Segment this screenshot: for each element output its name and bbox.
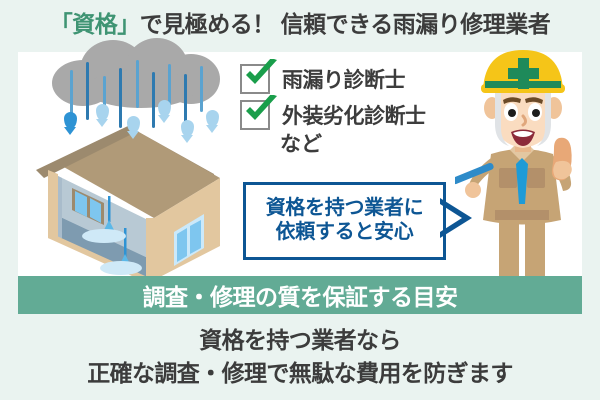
check-icon (243, 95, 279, 127)
infographic-root: 「資格」で見極める！ 信頼できる雨漏り修理業者 (0, 0, 600, 400)
caption-line-1: 資格を持つ業者なら (199, 324, 401, 357)
checklist-item-label: 雨漏り診断士 (282, 64, 405, 94)
page-title: 「資格」で見極める！ 信頼できる雨漏り修理業者 (0, 2, 600, 42)
qualification-checklist: 雨漏り診断士 外装劣化診断士 など (240, 62, 470, 155)
check-icon (243, 59, 279, 91)
banner-text: 調査・修理の質を保証する目安 (143, 278, 458, 312)
caption-line-2: 正確な調査・修理で無駄な費用を防ぎます (87, 357, 513, 390)
inspector-character-illustration (455, 50, 590, 308)
checklist-etc-label: など (280, 134, 470, 155)
rain-cloud-icon (52, 38, 222, 108)
checklist-item-label: 外装劣化診断士 (282, 100, 426, 130)
bubble-tail-icon (440, 198, 474, 238)
page-title-highlight: 「資格」 (50, 5, 140, 39)
checklist-item-0[interactable]: 雨漏り診断士 (240, 62, 470, 96)
cutaway-house-illustration (28, 108, 228, 278)
bubble-line-1: 資格を持つ業者に (266, 197, 424, 221)
checkbox-1[interactable] (240, 100, 270, 130)
checkbox-0[interactable] (240, 64, 270, 94)
bubble-line-2: 依頼すると安心 (276, 221, 414, 245)
guarantee-banner: 調査・修理の質を保証する目安 (18, 276, 582, 314)
summary-caption: 資格を持つ業者なら 正確な調査・修理で無駄な費用を防ぎます (0, 318, 600, 396)
page-title-rest: で見極める！ 信頼できる雨漏り修理業者 (140, 5, 550, 39)
checklist-item-1[interactable]: 外装劣化診断士 (240, 98, 470, 132)
advice-speech-bubble: 資格を持つ業者に 依頼すると安心 (243, 182, 446, 260)
